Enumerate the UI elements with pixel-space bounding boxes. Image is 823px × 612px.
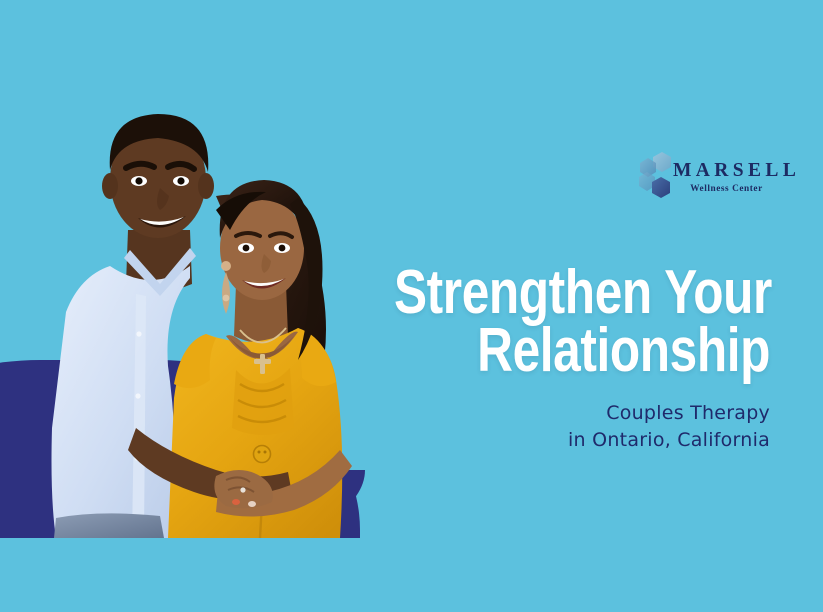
headline-line-2: Relationship	[394, 322, 770, 381]
subtitle-line-2: in Ontario, California	[370, 427, 770, 454]
logo-tagline: Wellness Center	[670, 184, 780, 194]
marketing-banner: MARSELL Wellness Center Strengthen Your …	[0, 0, 823, 612]
subtitle-line-1: Couples Therapy	[370, 400, 770, 427]
logo-name: MARSELL	[670, 161, 780, 181]
logo-wordmark: MARSELL Wellness Center	[670, 150, 780, 194]
couple-photo-illustration	[40, 98, 360, 538]
couple-photo	[40, 98, 360, 538]
headline-line-1: Strengthen Your	[394, 264, 770, 323]
page-title: Strengthen Your Relationship	[394, 264, 770, 382]
marsell-logo[interactable]: MARSELL Wellness Center	[638, 150, 778, 205]
subtitle: Couples Therapy in Ontario, California	[370, 400, 770, 454]
